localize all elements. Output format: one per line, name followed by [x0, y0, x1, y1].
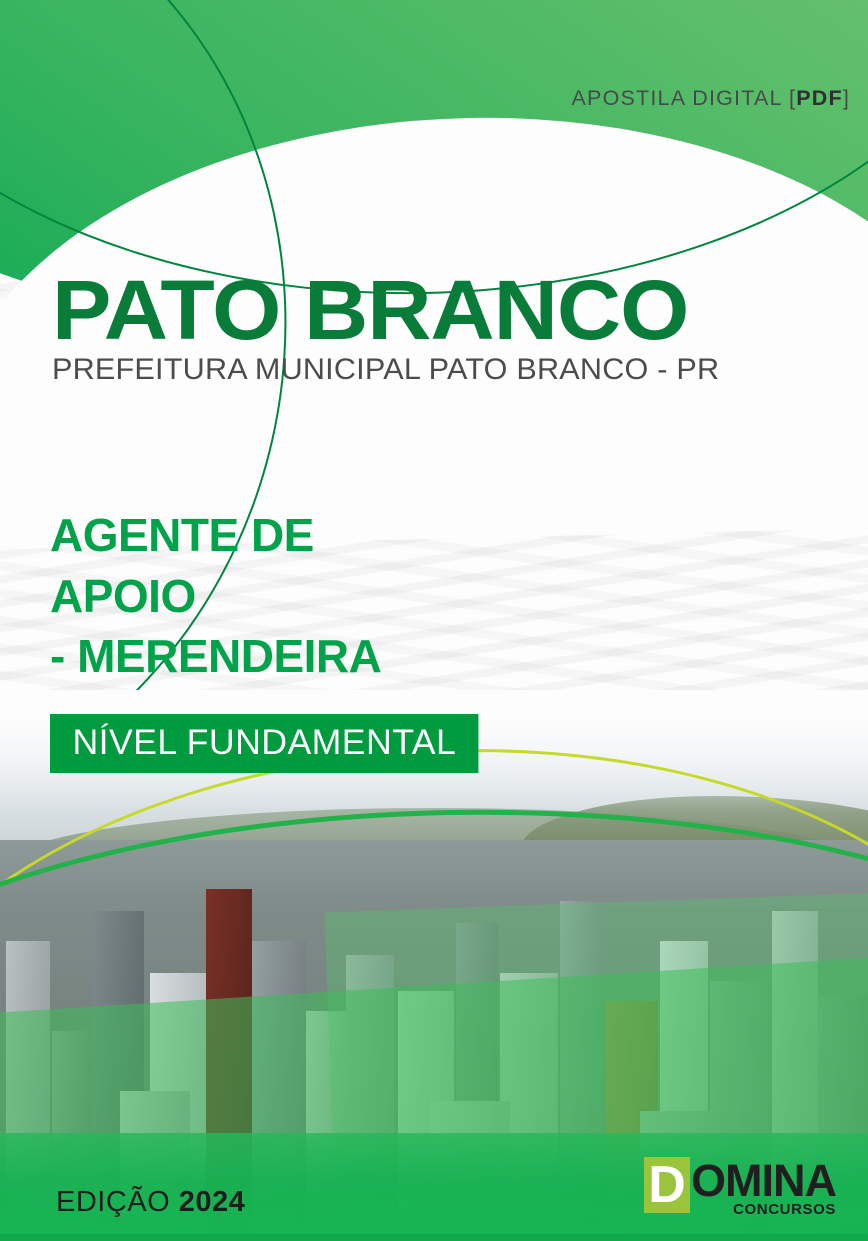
edition-label: EDIÇÃO 2024 [56, 1186, 245, 1219]
page-title: PATO BRANCO [52, 272, 868, 349]
apostila-cover: DOMINA APOSTILA DIGITAL [PDF] PATO BRANC… [0, 0, 868, 1241]
edition-text: EDIÇÃO [56, 1186, 170, 1218]
role-line-2: APOIO [50, 566, 650, 627]
title-block: PATO BRANCO PREFEITURA MUNICIPAL PATO BR… [52, 272, 842, 385]
apostila-digital-format: PDF [796, 86, 843, 110]
edition-year: 2024 [179, 1186, 246, 1218]
footer-bar-edge [0, 1234, 868, 1241]
role-block: AGENTE DE APOIO - MERENDEIRA [50, 505, 650, 687]
page-subtitle: PREFEITURA MUNICIPAL PATO BRANCO - PR [52, 355, 858, 385]
apostila-digital-suffix: ] [843, 86, 850, 110]
role-line-1: AGENTE DE [50, 505, 650, 566]
role-line-3: - MERENDEIRA [50, 626, 650, 687]
status-badge: NÍVEL FUNDAMENTAL [50, 714, 479, 773]
domina-logo: D OMINA CONCURSOS [644, 1157, 836, 1217]
apostila-digital-label: APOSTILA DIGITAL [PDF] [571, 86, 850, 111]
domina-logo-tagline: CONCURSOS [691, 1202, 836, 1217]
domina-logo-name: OMINA [691, 1157, 836, 1204]
domina-logo-text: OMINA CONCURSOS [691, 1157, 836, 1217]
apostila-digital-prefix: APOSTILA DIGITAL [ [571, 86, 796, 110]
domina-logo-mark: D [644, 1157, 690, 1213]
